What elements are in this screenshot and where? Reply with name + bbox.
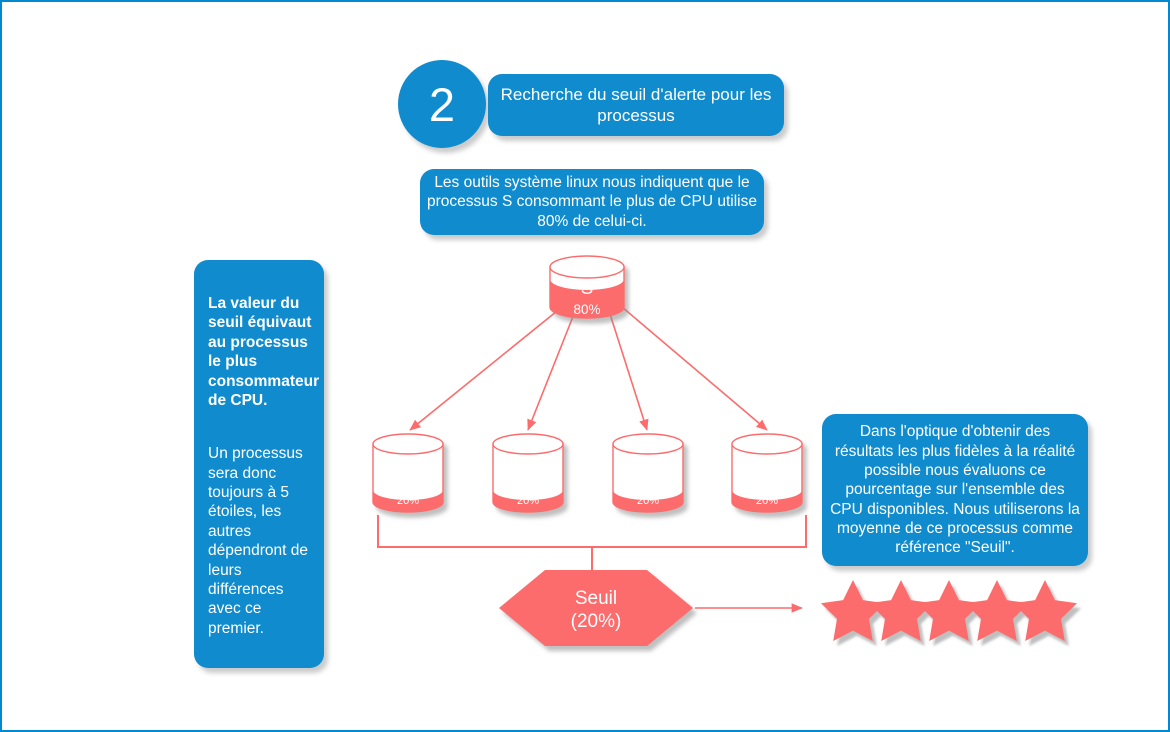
step-title-box: Recherche du seuil d'alerte pour les pro… [488,74,784,136]
main-cylinder-percent: 80% [573,302,600,317]
star-icon [917,580,981,641]
intro-note-box: Les outils système linux nous indiquent … [420,169,764,235]
left-note-paragraph-1: La valeur du seuil équivaut au processus… [208,294,312,410]
rating-stars [821,580,1077,641]
threshold-label-line1: Seuil [575,588,617,609]
cpu-cylinder-4-percent: 20% [756,495,778,507]
intro-note-text: Les outils système linux nous indiquent … [420,173,764,231]
aggregation-bracket [378,515,806,574]
main-cylinder-name: S [581,278,594,299]
threshold-label-line2: (20%) [571,611,622,632]
step-number: 2 [429,81,455,128]
star-icon [1013,580,1077,641]
step-number-badge: 2 [398,60,486,148]
right-note-text: Dans l'optique d'obtenir des résultats l… [830,422,1080,558]
star-icon [869,580,933,641]
star-icon [821,580,885,641]
cpu-cylinder-3-percent: 20% [637,495,659,507]
left-note-box: La valeur du seuil équivaut au processus… [194,260,324,668]
cpu-cylinder-1-percent: 20% [397,495,419,507]
left-note-spacer [208,410,312,444]
distribution-arrows [410,307,767,430]
right-note-box: Dans l'optique d'obtenir des résultats l… [822,414,1088,566]
step-title: Recherche du seuil d'alerte pour les pro… [488,84,784,127]
left-note-paragraph-2: Un processus sera donc toujours à 5 étoi… [208,444,312,638]
star-icon [965,580,1029,641]
cpu-cylinder-2-percent: 20% [517,495,539,507]
slide-canvas: S 80% 20% 20% 20% 20% [0,0,1170,732]
